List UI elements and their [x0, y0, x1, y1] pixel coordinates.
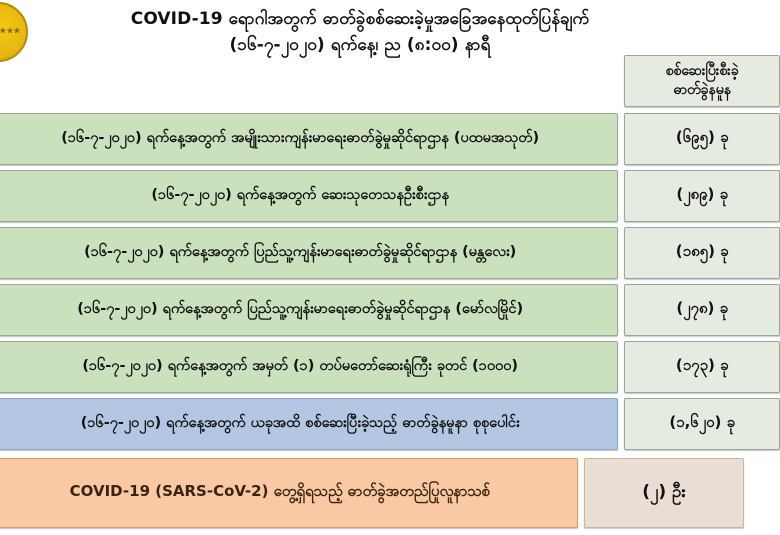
lab-testing-table: စစ်ဆေးပြီးစီးခဲ့ ဓာတ်ခွဲနမူန (၁၆-၇-၂၀၂၀)… — [0, 55, 780, 533]
table-row: (၁၆-၇-၂၀၂၀) ရက်နေ့အတွက် ဆေးသုတေသနဦးစီးဌာ… — [0, 170, 780, 222]
table-row: (၁၆-၇-၂၀၂၀) ရက်နေ့အတွက် ပြည်သူ့ကျန်းမာရေ… — [0, 227, 780, 279]
row-value-military-hospital: (၁၇၃) ခု — [624, 341, 780, 393]
title-line-primary: COVID-19 ရောဂါအတွက် ဓာတ်ခွဲစစ်ဆေးခဲ့မှုအ… — [60, 6, 660, 32]
value-column-header: စစ်ဆေးပြီးစီးခဲ့ ဓာတ်ခွဲနမူန — [624, 55, 780, 107]
table-row: (၁၆-၇-၂၀၂၀) ရက်နေ့အတွက် အမျိုးသားကျန်းမာ… — [0, 113, 780, 165]
row-label-public-health-mandalay: (၁၆-၇-၂၀၂၀) ရက်နေ့အတွက် ပြည်သူ့ကျန်းမာရေ… — [0, 227, 618, 279]
value-column-header-line-2: ဓာတ်ခွဲနမူန — [673, 81, 731, 100]
row-label-new-confirmed-cases: COVID-19 (SARS-CoV-2) တွေ့ရှိရသည့် ဓာတ်ခ… — [0, 458, 578, 528]
ministry-seal-logo: ★★★ — [0, 2, 28, 62]
table-header-row: စစ်ဆေးပြီးစီးခဲ့ ဓာတ်ခွဲနမူန — [0, 55, 780, 107]
table-row: (၁၆-၇-၂၀၂၀) ရက်နေ့အတွက် ပြည်သူ့ကျန်းမာရေ… — [0, 284, 780, 336]
label-column-header-placeholder — [0, 55, 618, 107]
row-value-public-health-mawlamyine: (၂၇၈) ခု — [624, 284, 780, 336]
row-value-new-confirmed-cases: (၂) ဦး — [584, 458, 744, 528]
table-row-total: (၁၆-၇-၂၀၂၀) ရက်နေ့အတွက် ယခုအထိ စစ်ဆေးပြီ… — [0, 398, 780, 450]
row-label-total-samples: (၁၆-၇-၂၀၂၀) ရက်နေ့အတွက် ယခုအထိ စစ်ဆေးပြီ… — [0, 398, 618, 450]
table-row: (၁၆-၇-၂၀၂၀) ရက်နေ့အတွက် အမှတ် (၁) တပ်မတေ… — [0, 341, 780, 393]
row-value-public-health-mandalay: (၁၈၅) ခု — [624, 227, 780, 279]
row-label-public-health-mawlamyine: (၁၆-၇-၂၀၂၀) ရက်နေ့အတွက် ပြည်သူ့ကျန်းမာရေ… — [0, 284, 618, 336]
page-title: COVID-19 ရောဂါအတွက် ဓာတ်ခွဲစစ်ဆေးခဲ့မှုအ… — [60, 6, 660, 59]
table-row-new-cases: COVID-19 (SARS-CoV-2) တွေ့ရှိရသည့် ဓာတ်ခ… — [0, 458, 780, 528]
row-label-national-health-lab: (၁၆-၇-၂၀၂၀) ရက်နေ့အတွက် အမျိုးသားကျန်းမာ… — [0, 113, 618, 165]
row-value-national-health-lab: (၆၉၅) ခု — [624, 113, 780, 165]
value-column-header-line-1: စစ်ဆေးပြီးစီးခဲ့ — [666, 62, 739, 81]
row-label-medical-research: (၁၆-၇-၂၀၂၀) ရက်နေ့အတွက် ဆေးသုတေသနဦးစီးဌာ… — [0, 170, 618, 222]
row-value-medical-research: (၂၈၉) ခု — [624, 170, 780, 222]
row-value-total-samples: (၁,၆၂၀) ခု — [624, 398, 780, 450]
row-label-military-hospital: (၁၆-၇-၂၀၂၀) ရက်နေ့အတွက် အမှတ် (၁) တပ်မတေ… — [0, 341, 618, 393]
seal-star-icon: ★★★ — [0, 28, 20, 37]
